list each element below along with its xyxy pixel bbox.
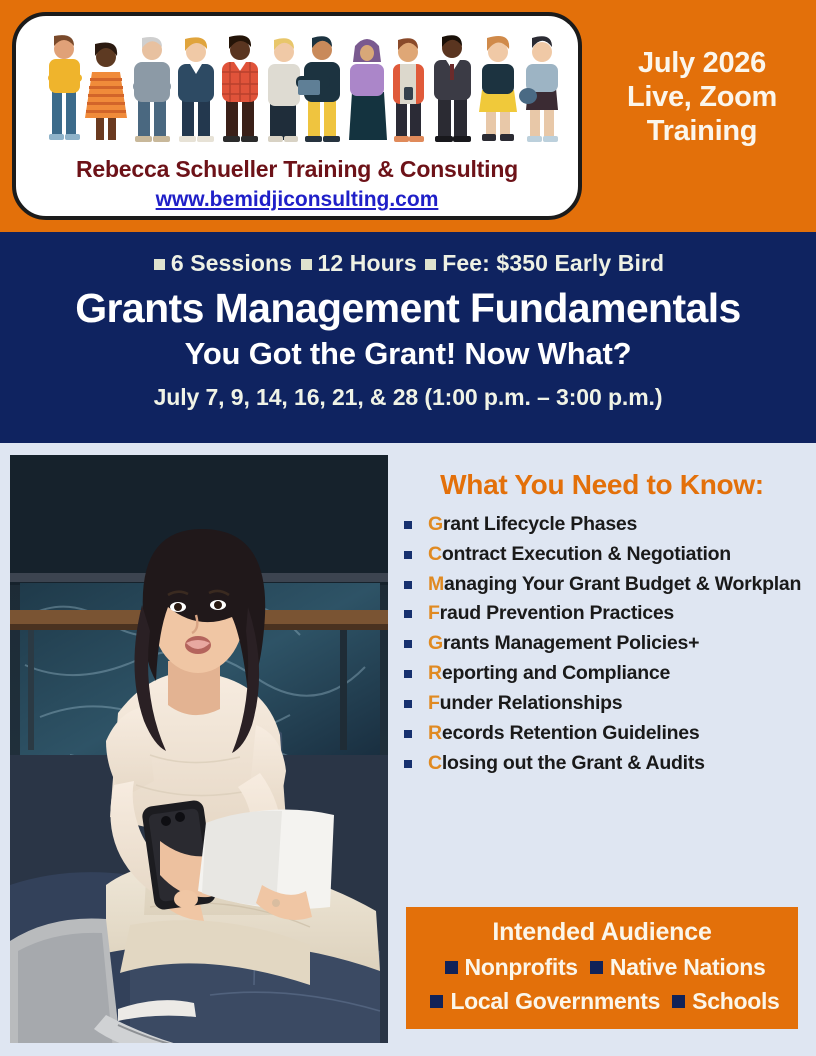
list-item: Reporting and Compliance — [400, 662, 806, 685]
list-item: Funder Relationships — [400, 692, 806, 715]
square-bullet-icon — [404, 610, 412, 618]
topic-text: ecords Retention Guidelines — [442, 722, 700, 744]
topic-text: losing out the Grant & Audits — [442, 752, 705, 774]
participant-photo — [10, 455, 388, 1043]
list-item: Grant Lifecycle Phases — [400, 513, 806, 536]
list-item: Closing out the Grant & Audits — [400, 752, 806, 775]
audience-item-schools: Schools — [692, 988, 779, 1014]
square-bullet-icon — [404, 581, 412, 589]
audience-row-1: Nonprofits Native Nations — [406, 954, 798, 981]
square-bullet-icon — [154, 259, 165, 270]
topics-list: Grant Lifecycle Phases Contract Executio… — [394, 513, 810, 774]
topic-initial: R — [428, 662, 442, 684]
topic-initial: G — [428, 513, 443, 535]
square-bullet-icon — [445, 961, 458, 974]
logo-website-link[interactable]: www.bemidjiconsulting.com — [16, 188, 578, 212]
list-item: Contract Execution & Negotiation — [400, 543, 806, 566]
topic-text: raud Prevention Practices — [440, 602, 674, 624]
event-month-year: July 2026 — [588, 46, 816, 80]
topic-text: eporting and Compliance — [442, 662, 670, 684]
audience-item-local-governments: Local Governments — [450, 988, 660, 1014]
audience-row-2: Local Governments Schools — [406, 988, 798, 1015]
topic-text: rants Management Policies+ — [443, 632, 699, 654]
topic-initial: C — [428, 752, 442, 774]
intended-audience-box: Intended Audience Nonprofits Native Nati… — [406, 907, 798, 1029]
event-info: July 2026 Live, Zoom Training — [588, 46, 816, 149]
topic-text: rant Lifecycle Phases — [443, 513, 637, 535]
content-column: What You Need to Know: Grant Lifecycle P… — [394, 455, 810, 1043]
course-banner: 6 Sessions 12 Hours Fee: $350 Early Bird… — [0, 232, 816, 443]
square-bullet-icon — [404, 670, 412, 678]
square-bullet-icon — [425, 259, 436, 270]
list-item: Grants Management Policies+ — [400, 632, 806, 655]
square-bullet-icon — [301, 259, 312, 270]
topic-initial: R — [428, 722, 442, 744]
square-bullet-icon — [404, 760, 412, 768]
course-dates: July 7, 9, 14, 16, 21, & 28 (1:00 p.m. –… — [0, 384, 816, 411]
topic-initial: F — [428, 602, 440, 624]
square-bullet-icon — [404, 700, 412, 708]
flyer-page: Rebecca Schueller Training & Consulting … — [0, 0, 816, 1056]
event-format: Live, Zoom — [588, 80, 816, 114]
audience-item-native-nations: Native Nations — [610, 954, 766, 980]
square-bullet-icon — [590, 961, 603, 974]
meta-hours: 12 Hours — [318, 250, 417, 276]
meta-sessions: 6 Sessions — [171, 250, 292, 276]
course-title: Grants Management Fundamentals — [0, 285, 816, 332]
topic-initial: C — [428, 543, 442, 565]
topic-initial: M — [428, 573, 444, 595]
section-title-what-you-need-to-know: What You Need to Know: — [394, 469, 810, 501]
event-type: Training — [588, 114, 816, 148]
course-subtitle: You Got the Grant! Now What? — [0, 336, 816, 372]
body-section: What You Need to Know: Grant Lifecycle P… — [0, 443, 816, 1056]
header-banner: Rebecca Schueller Training & Consulting … — [0, 0, 816, 232]
topic-initial: G — [428, 632, 443, 654]
people-illustration-icon — [30, 24, 570, 154]
list-item: Fraud Prevention Practices — [400, 602, 806, 625]
list-item: Managing Your Grant Budget & Workplan — [400, 573, 806, 596]
logo-card: Rebecca Schueller Training & Consulting … — [12, 12, 582, 220]
list-item: Records Retention Guidelines — [400, 722, 806, 745]
topic-text: anaging Your Grant Budget & Workplan — [444, 573, 801, 595]
audience-title: Intended Audience — [406, 918, 798, 947]
square-bullet-icon — [404, 521, 412, 529]
topic-initial: F — [428, 692, 440, 714]
square-bullet-icon — [430, 995, 443, 1008]
topic-text: ontract Execution & Negotiation — [442, 543, 731, 565]
square-bullet-icon — [404, 730, 412, 738]
meta-fee: Fee: $350 Early Bird — [442, 250, 664, 276]
square-bullet-icon — [404, 551, 412, 559]
logo-company-name: Rebecca Schueller Training & Consulting — [16, 156, 578, 183]
square-bullet-icon — [672, 995, 685, 1008]
topic-text: under Relationships — [440, 692, 623, 714]
square-bullet-icon — [404, 640, 412, 648]
audience-item-nonprofits: Nonprofits — [465, 954, 578, 980]
course-meta-row: 6 Sessions 12 Hours Fee: $350 Early Bird — [0, 250, 816, 277]
